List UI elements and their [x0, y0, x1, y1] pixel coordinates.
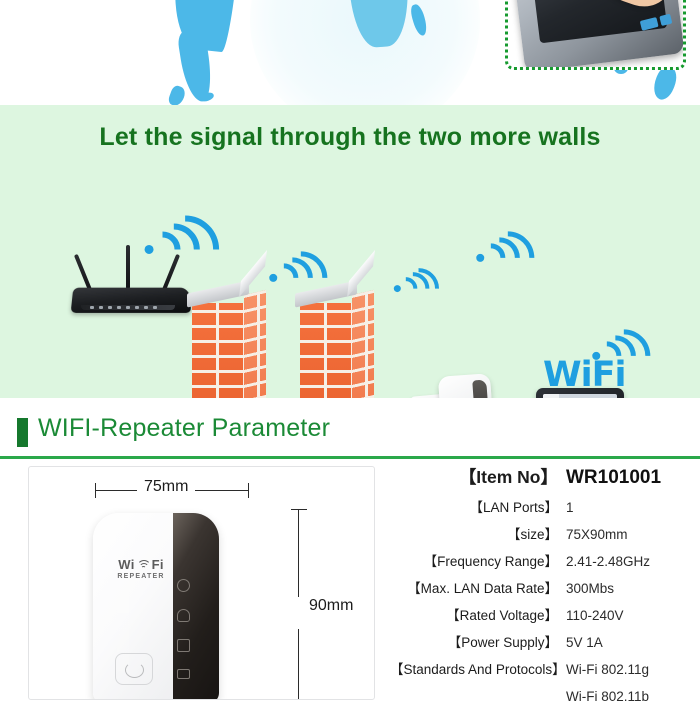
spec-key: 【LAN Ports】	[390, 496, 566, 516]
spec-row: 【size】75X90mm	[390, 523, 690, 543]
brand-fi-text: Fi	[152, 557, 164, 572]
repeater-product-photo: Wi Fi REPEATER	[93, 513, 219, 700]
parameter-section: WIFI-Repeater Parameter 75mm 90mm Wi	[0, 398, 700, 700]
spec-row: 【Rated Voltage】110-240V	[390, 604, 690, 624]
spec-key: 【Max. LAN Data Rate】	[390, 577, 566, 597]
tablet-key-blue-2	[659, 14, 672, 26]
spec-value: WR101001	[566, 467, 661, 489]
spec-key: 【Rated Voltage】	[390, 604, 566, 624]
spec-value: 1	[566, 500, 574, 515]
product-image-panel: 75mm 90mm Wi	[28, 466, 375, 700]
spec-key: 【Power Supply】	[390, 631, 566, 651]
spec-key: 【Frequency Range】	[390, 550, 566, 570]
tablet-icon	[536, 388, 624, 398]
width-dimension-label: 75mm	[137, 478, 195, 496]
ethernet-led-icon	[177, 639, 190, 652]
device-branding: Wi Fi REPEATER	[109, 557, 173, 580]
height-dimension: 90mm	[287, 501, 357, 699]
brand-wifi-icon	[137, 559, 150, 570]
section-divider	[0, 456, 700, 459]
tablet-photo	[512, 0, 685, 70]
spec-key: 【Standards And Protocols】	[390, 658, 566, 678]
spec-value: Wi-Fi 802.11g	[566, 662, 649, 677]
power-led-icon	[177, 579, 190, 592]
map-south-america-tip	[167, 84, 187, 105]
section-accent-bar	[17, 418, 28, 447]
wps-reset-icon	[125, 662, 144, 678]
spec-row: 【Max. LAN Data Rate】300Mbs	[390, 577, 690, 597]
wifi-signal-icon-4	[475, 230, 536, 291]
brick-wall-icon-1	[192, 285, 266, 398]
lan-led-icon	[177, 669, 190, 679]
brick-wall-icon-2	[300, 285, 374, 398]
section-header: WIFI-Repeater Parameter	[0, 414, 700, 454]
section-title: WIFI-Repeater Parameter	[38, 414, 330, 443]
hero-illustration-band: Let the signal through the two more wall…	[0, 105, 700, 398]
spec-row: 【Frequency Range】2.41-2.48GHz	[390, 550, 690, 570]
spec-value: 2.41-2.48GHz	[566, 554, 650, 569]
wifi-led-icon	[177, 609, 190, 622]
device-led-indicators	[177, 579, 197, 696]
spec-row: 【Item No】WR101001	[390, 464, 690, 489]
world-map-banner	[0, 0, 700, 105]
spec-row: 【Standards And Protocols】Wi-Fi 802.11g	[390, 658, 690, 678]
spec-value: 300Mbs	[566, 581, 614, 596]
spec-row: 【LAN Ports】1	[390, 496, 690, 516]
brand-wi-text: Wi	[118, 557, 134, 572]
spec-value: Wi-Fi 802.11b	[566, 689, 649, 704]
spec-value: 110-240V	[566, 608, 624, 623]
spec-value: 75X90mm	[566, 527, 628, 542]
spec-table: 【Item No】WR101001【LAN Ports】1【size】75X90…	[390, 464, 690, 712]
spec-value: 5V 1A	[566, 635, 603, 650]
spec-key: 【size】	[390, 523, 566, 543]
repeater-icon	[438, 373, 494, 398]
brand-subtitle: REPEATER	[109, 573, 173, 580]
wps-reset-button[interactable]	[115, 653, 153, 685]
spec-key: 【Item No】	[390, 464, 566, 489]
spec-row: 【Standards And Protocols】Wi-Fi 802.11b	[390, 685, 690, 705]
hero-headline: Let the signal through the two more wall…	[0, 123, 700, 152]
wifi-signal-icon-3	[392, 267, 437, 312]
height-dimension-label: 90mm	[309, 597, 353, 615]
spec-row: 【Power Supply】5V 1A	[390, 631, 690, 651]
product-detail-page: Let the signal through the two more wall…	[0, 0, 700, 700]
width-dimension: 75mm	[95, 481, 249, 499]
tablet-photo-callout	[505, 0, 686, 70]
